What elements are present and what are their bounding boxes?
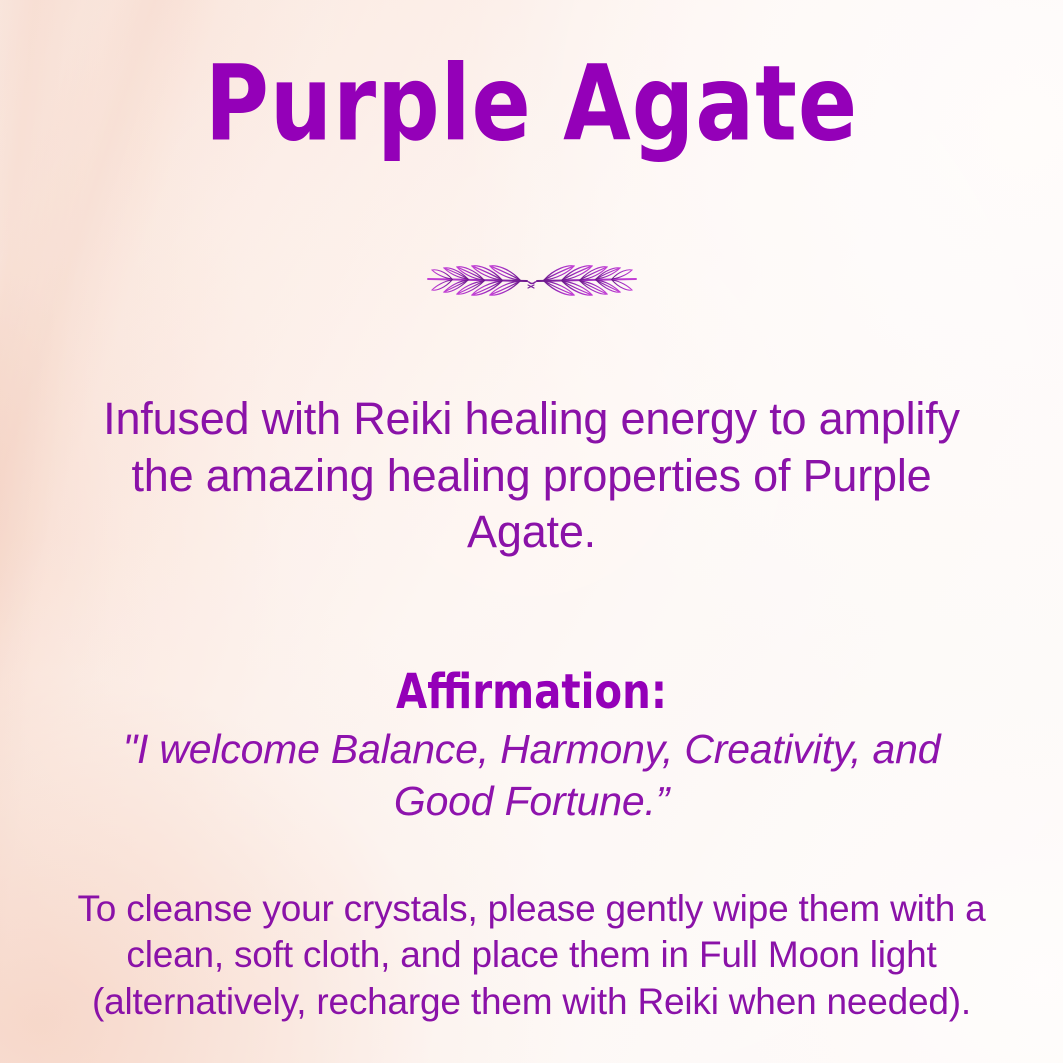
affirmation-line-2: Good Fortune.” [82,776,982,828]
care-line-3: (alternatively, recharge them with Reiki… [67,979,997,1025]
care-line-1: To cleanse your crystals, please gently … [67,886,997,932]
affirmation-quote: "I welcome Balance, Harmony, Creativity,… [82,724,982,827]
affirmation-line-1: "I welcome Balance, Harmony, Creativity,… [82,724,982,776]
body-line-3: Agate. [82,504,982,561]
laurel-branch-divider-icon [412,252,652,308]
care-line-2: clean, soft cloth, and place them in Ful… [67,932,997,978]
body-line-1: Infused with Reiki healing energy to amp… [82,391,982,448]
body-paragraph: Infused with Reiki healing energy to amp… [82,391,982,561]
care-instructions: To cleanse your crystals, please gently … [67,886,997,1025]
body-line-2: the amazing healing properties of Purple [82,448,982,505]
affirmation-heading: Affirmation: [21,668,1041,716]
card-content: Purple Agate [0,0,1063,1063]
crystal-info-card: Purple Agate [0,0,1063,1063]
page-title: Purple Agate [32,52,1031,156]
